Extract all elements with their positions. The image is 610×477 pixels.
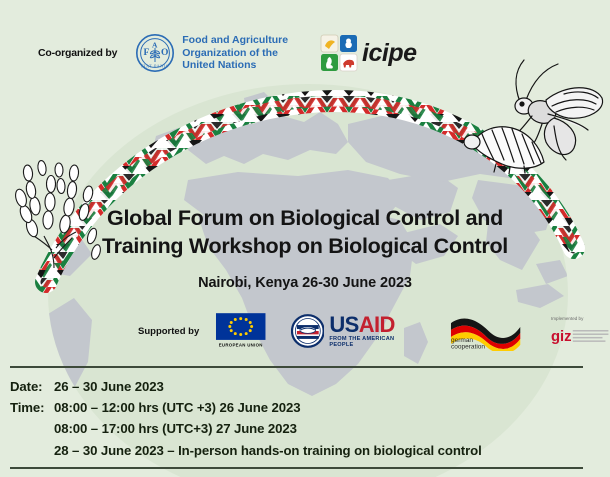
event-poster: Co-organized by F A O FIAT PANIS Food an… [0, 0, 610, 477]
giz-implemented-label: Implemented by [551, 316, 584, 321]
usaid-tagline: FROM THE AMERICAN PEOPLE [329, 337, 419, 348]
usaid-seal-icon [291, 314, 325, 348]
fao-emblem-icon: F A O FIAT PANIS [135, 33, 175, 73]
title-block: Global Forum on Biological Control and T… [0, 204, 610, 291]
detail-row-time-2: 08:00 – 17:00 hrs (UTC+3) 27 June 2023 [10, 418, 600, 439]
detail-key [10, 440, 54, 461]
european-union-flag-icon: EUROPEAN UNION [215, 312, 266, 350]
supporters-row: Supported by EUROPEAN UNION [0, 306, 610, 356]
giz-logo-icon: Implemented by giz [551, 311, 610, 351]
detail-value: 08:00 – 17:00 hrs (UTC+3) 27 June 2023 [54, 418, 600, 439]
german-caption-2: cooperation [451, 343, 485, 350]
usaid-word-aid: AID [359, 312, 395, 337]
giz-wordmark: giz [551, 329, 572, 345]
supported-by-label: Supported by [138, 326, 199, 337]
fao-name-text: Food and Agriculture Organization of the… [182, 34, 288, 72]
divider-bottom [10, 467, 583, 469]
detail-row-time-1: Time: 08:00 – 12:00 hrs (UTC +3) 26 June… [10, 397, 600, 418]
subtitle-location-dates: Nairobi, Kenya 26-30 June 2023 [0, 275, 610, 291]
detail-value: 08:00 – 12:00 hrs (UTC +3) 26 June 2023 [54, 397, 600, 418]
usaid-word-us: US [329, 312, 358, 337]
usaid-wordmark: USAID FROM THE AMERICAN PEOPLE [329, 314, 419, 348]
svg-text:FIAT PANIS: FIAT PANIS [141, 64, 169, 69]
detail-value: 26 – 30 June 2023 [54, 376, 600, 397]
svg-text:O: O [161, 48, 168, 58]
icipe-logo: icipe [320, 34, 416, 72]
title-line-1: Global Forum on Biological Control and [0, 204, 610, 232]
event-details-panel: Date: 26 – 30 June 2023 Time: 08:00 – 12… [0, 362, 610, 477]
eu-caption: EUROPEAN UNION [219, 342, 263, 347]
detail-row-training: 28 – 30 June 2023 – In-person hands-on t… [10, 440, 600, 461]
usaid-logo: USAID FROM THE AMERICAN PEOPLE [291, 314, 420, 348]
svg-text:F: F [144, 48, 150, 58]
divider-top [10, 366, 583, 368]
title-line-2: Training Workshop on Biological Control [0, 232, 610, 260]
german-cooperation-logo-icon: german cooperation [449, 311, 522, 351]
coorganizers-row: Co-organized by F A O FIAT PANIS Food an… [0, 26, 610, 80]
detail-key: Time: [10, 397, 54, 418]
coorganized-by-label: Co-organized by [38, 47, 117, 59]
icipe-squares-icon [320, 34, 358, 72]
detail-value: 28 – 30 June 2023 – In-person hands-on t… [54, 440, 600, 461]
fao-logo: F A O FIAT PANIS Food and Agriculture Or… [135, 33, 288, 73]
page-title: Global Forum on Biological Control and T… [0, 204, 610, 261]
event-details-list: Date: 26 – 30 June 2023 Time: 08:00 – 12… [10, 376, 600, 462]
detail-key: Date: [10, 376, 54, 397]
detail-key [10, 418, 54, 439]
icipe-wordmark: icipe [362, 41, 416, 66]
detail-row-date: Date: 26 – 30 June 2023 [10, 376, 600, 397]
